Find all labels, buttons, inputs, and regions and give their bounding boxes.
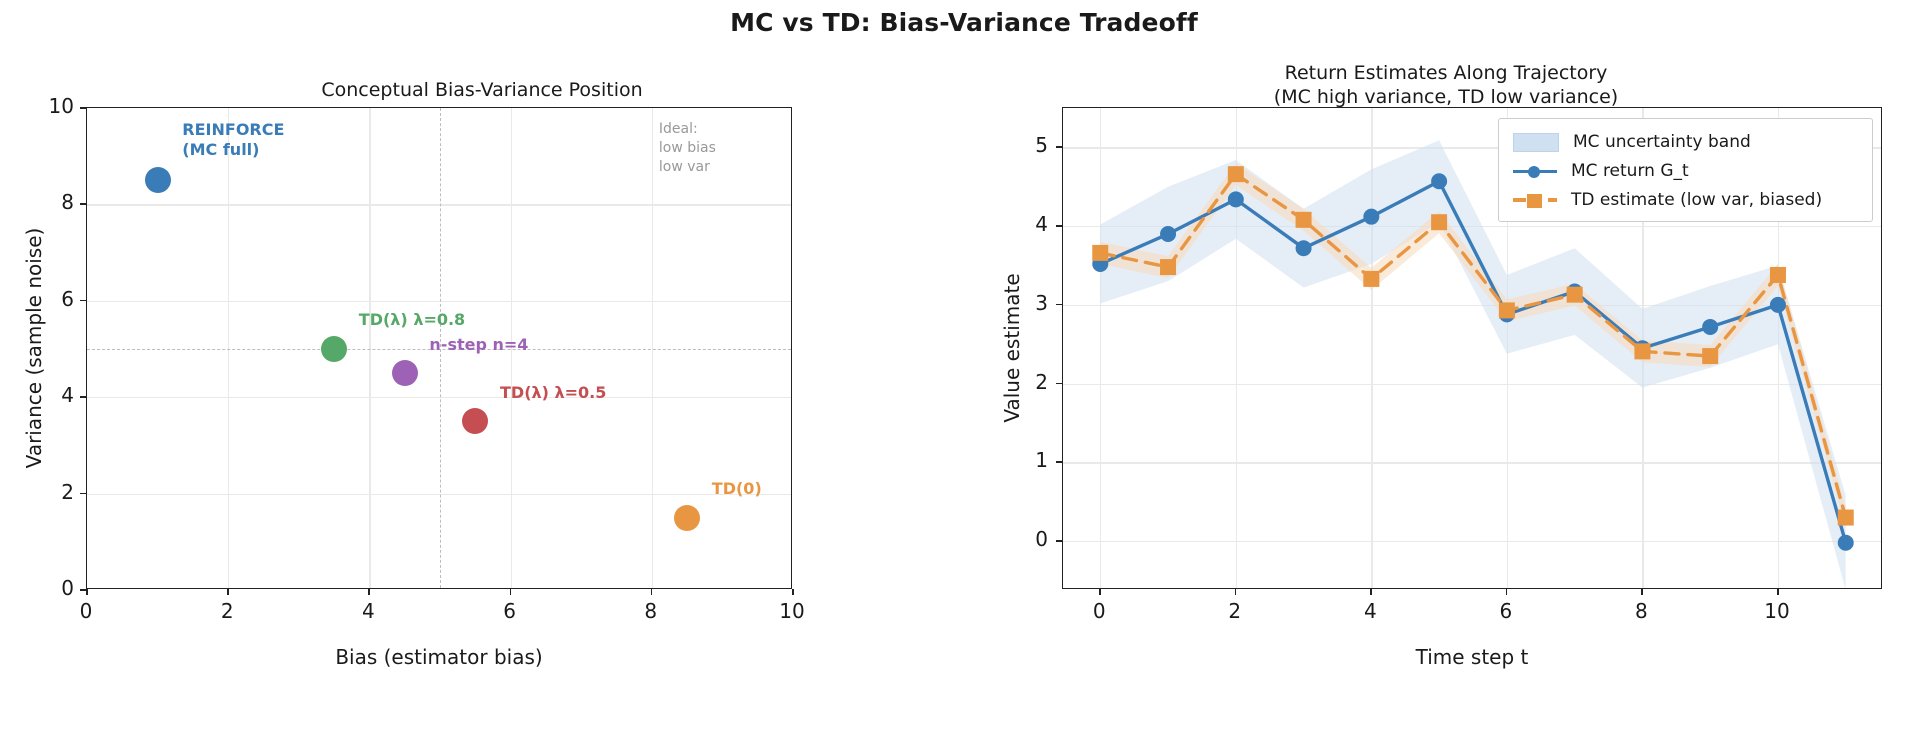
legend-swatch-dashed xyxy=(1513,192,1557,209)
y-tick-mark xyxy=(1056,540,1062,542)
left-plot-area: Ideal: low bias low varREINFORCE (MC ful… xyxy=(86,107,792,589)
left-panel-title: Conceptual Bias-Variance Position xyxy=(0,78,964,103)
x-tick-label: 2 xyxy=(197,599,257,623)
y-tick-label: 10 xyxy=(22,94,74,118)
x-tick-label: 8 xyxy=(1611,599,1671,623)
x-tick-label: 2 xyxy=(1205,599,1265,623)
marker-mc-1[interactable] xyxy=(1160,226,1176,242)
y-tick-mark xyxy=(80,396,86,398)
x-tick-mark xyxy=(1370,589,1372,595)
marker-td-6[interactable] xyxy=(1499,302,1515,318)
x-tick-mark xyxy=(1506,589,1508,595)
legend-square-marker-icon xyxy=(1527,194,1542,208)
marker-mc-9[interactable] xyxy=(1702,319,1718,335)
y-tick-mark xyxy=(80,589,86,591)
marker-mc-2[interactable] xyxy=(1228,191,1244,207)
x-tick-label: 10 xyxy=(762,599,822,623)
scatter-point-label-4: TD(λ) λ=0.5 xyxy=(500,383,606,403)
gridline-vertical xyxy=(228,108,229,588)
x-tick-label: 4 xyxy=(1340,599,1400,623)
x-tick-label: 6 xyxy=(480,599,540,623)
marker-td-3[interactable] xyxy=(1296,212,1312,228)
x-tick-mark xyxy=(86,589,88,595)
marker-mc-4[interactable] xyxy=(1363,209,1379,225)
x-tick-label: 4 xyxy=(338,599,398,623)
y-tick-mark xyxy=(1056,225,1062,227)
scatter-point-label-5: TD(0) xyxy=(712,479,762,499)
y-tick-mark xyxy=(1056,383,1062,385)
legend-swatch-line xyxy=(1513,163,1557,180)
y-tick-label: 1 xyxy=(1002,448,1048,472)
legend-swatch-band xyxy=(1513,133,1559,152)
legend-circle-marker-icon xyxy=(1528,166,1540,178)
gridline-horizontal xyxy=(87,204,791,205)
x-tick-label: 6 xyxy=(1476,599,1536,623)
scatter-point-1[interactable] xyxy=(145,167,171,193)
x-tick-mark xyxy=(792,589,794,595)
marker-td-1[interactable] xyxy=(1160,259,1176,275)
marker-mc-5[interactable] xyxy=(1431,173,1447,189)
right-plot-area: MC uncertainty bandMC return G_tTD estim… xyxy=(1062,107,1882,589)
marker-td-0[interactable] xyxy=(1092,245,1108,261)
gridline-vertical xyxy=(369,108,370,588)
y-tick-mark xyxy=(80,493,86,495)
marker-td-8[interactable] xyxy=(1634,343,1650,359)
legend-item-label-3: TD estimate (low var, biased) xyxy=(1571,190,1822,210)
marker-mc-3[interactable] xyxy=(1296,240,1312,256)
marker-td-5[interactable] xyxy=(1431,214,1447,230)
y-tick-mark xyxy=(1056,461,1062,463)
left-panel: Conceptual Bias-Variance Position Ideal:… xyxy=(0,60,964,735)
y-tick-label: 4 xyxy=(1002,212,1048,236)
gridline-vertical xyxy=(652,108,653,588)
y-tick-mark xyxy=(80,203,86,205)
x-tick-mark xyxy=(227,589,229,595)
gridline-horizontal xyxy=(87,301,791,302)
scatter-point-5[interactable] xyxy=(674,505,700,531)
scatter-point-3[interactable] xyxy=(392,360,418,386)
right-x-axis-label: Time step t xyxy=(1062,645,1882,669)
legend-item-label-2: MC return G_t xyxy=(1571,161,1689,181)
y-tick-label: 0 xyxy=(22,576,74,600)
x-tick-mark xyxy=(1099,589,1101,595)
ideal-region-note: Ideal: low bias low var xyxy=(659,120,716,177)
gridline-horizontal xyxy=(87,494,791,495)
x-tick-label: 8 xyxy=(621,599,681,623)
y-tick-mark xyxy=(1056,304,1062,306)
legend-dash-segment-left xyxy=(1513,198,1526,202)
x-tick-mark xyxy=(368,589,370,595)
x-tick-label: 0 xyxy=(56,599,116,623)
y-tick-mark xyxy=(80,300,86,302)
legend-dash-segment-right xyxy=(1548,198,1557,202)
scatter-point-2[interactable] xyxy=(321,336,347,362)
x-tick-mark xyxy=(1235,589,1237,595)
x-tick-label: 0 xyxy=(1069,599,1129,623)
y-tick-mark xyxy=(80,107,86,109)
legend-item-1[interactable]: MC uncertainty band xyxy=(1513,129,1751,155)
y-tick-label: 8 xyxy=(22,190,74,214)
y-tick-label: 0 xyxy=(1002,527,1048,551)
legend-item-3[interactable]: TD estimate (low var, biased) xyxy=(1513,187,1822,213)
marker-mc-11[interactable] xyxy=(1838,535,1854,551)
x-tick-label: 10 xyxy=(1747,599,1807,623)
right-panel: Return Estimates Along Trajectory (MC hi… xyxy=(964,60,1928,735)
x-tick-mark xyxy=(651,589,653,595)
marker-td-10[interactable] xyxy=(1770,267,1786,283)
figure-canvas: MC vs TD: Bias-Variance Tradeoff Concept… xyxy=(0,0,1928,735)
scatter-point-label-2: TD(λ) λ=0.8 xyxy=(359,310,465,330)
scatter-point-label-3: n-step n=4 xyxy=(429,335,528,355)
right-panel-title-line1: Return Estimates Along Trajectory xyxy=(964,61,1928,86)
y-tick-label: 5 xyxy=(1002,133,1048,157)
legend-item-2[interactable]: MC return G_t xyxy=(1513,158,1689,184)
legend: MC uncertainty bandMC return G_tTD estim… xyxy=(1498,118,1873,222)
x-tick-mark xyxy=(510,589,512,595)
right-y-axis-label: Value estimate xyxy=(1000,273,1024,422)
scatter-point-label-1: REINFORCE (MC full) xyxy=(182,120,284,160)
figure-suptitle: MC vs TD: Bias-Variance Tradeoff xyxy=(0,8,1928,37)
marker-td-9[interactable] xyxy=(1702,348,1718,364)
x-tick-mark xyxy=(1641,589,1643,595)
left-y-axis-label: Variance (sample noise) xyxy=(22,228,46,469)
marker-td-7[interactable] xyxy=(1567,287,1583,303)
y-tick-label: 2 xyxy=(22,480,74,504)
left-x-axis-label: Bias (estimator bias) xyxy=(86,645,792,669)
scatter-point-4[interactable] xyxy=(462,408,488,434)
y-tick-mark xyxy=(1056,146,1062,148)
marker-mc-10[interactable] xyxy=(1770,297,1786,313)
legend-item-label-1: MC uncertainty band xyxy=(1573,132,1751,152)
marker-td-4[interactable] xyxy=(1363,271,1379,287)
gridline-horizontal xyxy=(87,397,791,398)
x-tick-mark xyxy=(1777,589,1779,595)
marker-td-2[interactable] xyxy=(1228,166,1244,182)
marker-td-11[interactable] xyxy=(1838,510,1854,526)
